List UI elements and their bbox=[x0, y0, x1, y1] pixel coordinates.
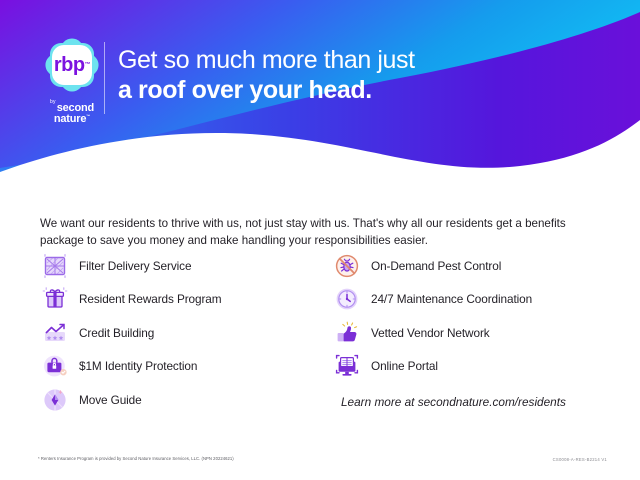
rbp-logo: rbp™ bysecond nature™ bbox=[33, 34, 111, 122]
logo-byline-by: by bbox=[50, 99, 56, 105]
benefit-item-filter-delivery-service: Filter Delivery Service bbox=[40, 249, 332, 283]
hero-banner: rbp™ bysecond nature™ Get so much more t… bbox=[0, 0, 640, 190]
benefit-label: Move Guide bbox=[79, 393, 142, 407]
air-filter-icon bbox=[40, 251, 70, 281]
headline-line-1: Get so much more than just bbox=[118, 46, 415, 76]
benefit-label: Filter Delivery Service bbox=[79, 259, 191, 273]
logo-badge-shape: rbp™ bbox=[41, 34, 103, 96]
compass-icon bbox=[40, 385, 70, 415]
benefit-label: Online Portal bbox=[371, 359, 438, 373]
logo-byline: bysecond nature™ bbox=[33, 99, 111, 125]
benefits-columns: Filter Delivery Service Resident Rewards… bbox=[40, 249, 600, 417]
footer-disclaimer: * Renters Insurance Program is provided … bbox=[38, 456, 234, 461]
benefits-column-left: Filter Delivery Service Resident Rewards… bbox=[40, 249, 332, 417]
benefit-item-maintenance-coordination: 24/7 Maintenance Coordination bbox=[332, 283, 600, 317]
headline-line-2: a roof over your head. bbox=[118, 76, 415, 106]
benefit-item-vetted-vendor-network: Vetted Vendor Network bbox=[332, 316, 600, 350]
monitor-portal-icon bbox=[332, 351, 362, 381]
benefit-item-identity-protection: $1M Identity Protection bbox=[40, 350, 332, 384]
logo-byline-nature-row: nature™ bbox=[33, 114, 111, 125]
identity-briefcase-lock-icon bbox=[40, 351, 70, 381]
logo-byline-nature: nature bbox=[54, 113, 86, 125]
thumbs-up-icon bbox=[332, 318, 362, 348]
benefit-item-online-portal: Online Portal bbox=[332, 350, 600, 384]
no-pest-icon bbox=[332, 251, 362, 281]
benefit-label: $1M Identity Protection bbox=[79, 359, 197, 373]
logo-wordmark: rbp™ bbox=[41, 34, 103, 96]
benefits-flyer: rbp™ bysecond nature™ Get so much more t… bbox=[0, 0, 640, 480]
gift-box-icon bbox=[40, 284, 70, 314]
benefit-item-resident-rewards-program: Resident Rewards Program bbox=[40, 283, 332, 317]
benefits-column-right: On-Demand Pest Control 24/7 Mai bbox=[332, 249, 600, 417]
benefit-label: On-Demand Pest Control bbox=[371, 259, 501, 273]
hero-headline: Get so much more than just a roof over y… bbox=[118, 46, 415, 105]
benefit-label: 24/7 Maintenance Coordination bbox=[371, 292, 532, 306]
credit-chart-icon bbox=[40, 318, 70, 348]
logo-wordmark-text: rbp bbox=[54, 54, 85, 77]
logo-divider bbox=[104, 42, 105, 114]
benefit-item-credit-building: Credit Building bbox=[40, 316, 332, 350]
clock-icon bbox=[332, 284, 362, 314]
logo-trademark: ™ bbox=[85, 62, 91, 68]
benefit-label: Resident Rewards Program bbox=[79, 292, 222, 306]
benefit-label: Credit Building bbox=[79, 326, 154, 340]
benefit-label: Vetted Vendor Network bbox=[371, 326, 490, 340]
footer-document-code: CS0008-A-RES-B2214 V1 bbox=[553, 457, 607, 462]
logo-byline-trademark: ™ bbox=[86, 113, 90, 118]
benefit-item-pest-control: On-Demand Pest Control bbox=[332, 249, 600, 283]
benefit-item-move-guide: Move Guide bbox=[40, 383, 332, 417]
learn-more-text: Learn more at secondnature.com/residents bbox=[341, 395, 600, 409]
intro-paragraph: We want our residents to thrive with us,… bbox=[40, 215, 592, 250]
